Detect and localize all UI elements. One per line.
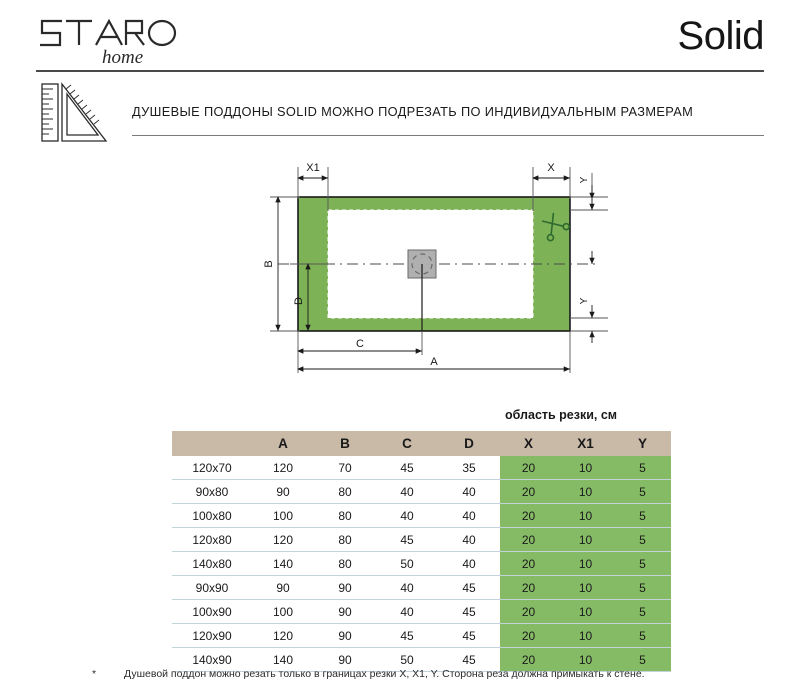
table-cell-b: 90: [314, 576, 376, 600]
table-header-a: A: [252, 431, 314, 456]
table-cell-x1: 10: [557, 600, 614, 624]
table-row: 90x909090404520105: [172, 576, 671, 600]
table-cell-d: 40: [438, 480, 500, 504]
table-cell-d: 45: [438, 600, 500, 624]
table-cell-x: 20: [500, 504, 557, 528]
table-cell-x: 20: [500, 552, 557, 576]
table-cell-x1: 10: [557, 552, 614, 576]
table-cell-x: 20: [500, 456, 557, 480]
table-cell-y: 5: [614, 504, 671, 528]
table-header-d: D: [438, 431, 500, 456]
table-cell-x: 20: [500, 528, 557, 552]
table-row: 100x9010090404520105: [172, 600, 671, 624]
brand-logo: home: [36, 14, 216, 68]
table-row: 90x809080404020105: [172, 480, 671, 504]
table-cell-b: 80: [314, 552, 376, 576]
table-cell-a: 100: [252, 600, 314, 624]
table-cell-x1: 10: [557, 456, 614, 480]
table-cell-b: 80: [314, 528, 376, 552]
footnote-marker: *: [92, 668, 96, 680]
table-cell-c: 50: [376, 552, 438, 576]
table-cell-size: 120x80: [172, 528, 252, 552]
dim-label-x1: X1: [306, 162, 319, 174]
table-header-row: A B C D X X1 Y: [172, 431, 671, 456]
table-cell-x1: 10: [557, 624, 614, 648]
table-cell-y: 5: [614, 576, 671, 600]
header-divider: [36, 70, 764, 72]
table-cell-b: 80: [314, 480, 376, 504]
table-cell-c: 45: [376, 456, 438, 480]
table-cell-c: 45: [376, 528, 438, 552]
table-row: 140x8014080504020105: [172, 552, 671, 576]
table-cell-x: 20: [500, 600, 557, 624]
table-cell-a: 120: [252, 624, 314, 648]
footnote-text: Душевой поддон можно резать только в гра…: [124, 668, 645, 680]
dim-label-x: X: [547, 162, 555, 174]
table-cell-a: 90: [252, 480, 314, 504]
table-row: 100x8010080404020105: [172, 504, 671, 528]
table-cell-b: 90: [314, 624, 376, 648]
dim-label-y-top: Y: [579, 176, 590, 183]
shower-tray-cut-diagram: X1 X Y Y B D C A: [220, 155, 620, 395]
table-cell-d: 40: [438, 552, 500, 576]
table-cell-x1: 10: [557, 504, 614, 528]
table-cell-b: 80: [314, 504, 376, 528]
table-header-b: B: [314, 431, 376, 456]
table-cell-x1: 10: [557, 480, 614, 504]
table-cell-size: 120x90: [172, 624, 252, 648]
table-cell-b: 70: [314, 456, 376, 480]
table-header-c: C: [376, 431, 438, 456]
dim-label-a: A: [430, 356, 438, 368]
table-cell-a: 100: [252, 504, 314, 528]
table-cell-y: 5: [614, 528, 671, 552]
table-cell-c: 40: [376, 480, 438, 504]
table-cell-x: 20: [500, 624, 557, 648]
dim-label-c: C: [356, 338, 364, 350]
table-cell-size: 140x80: [172, 552, 252, 576]
table-row: 120x8012080454020105: [172, 528, 671, 552]
table-cell-y: 5: [614, 456, 671, 480]
footnote: * Душевой поддон можно резать только в г…: [92, 668, 752, 680]
table-cell-a: 140: [252, 552, 314, 576]
table-row: 120x7012070453520105: [172, 456, 671, 480]
table-cell-y: 5: [614, 600, 671, 624]
table-cell-x1: 10: [557, 576, 614, 600]
table-cell-d: 40: [438, 528, 500, 552]
table-cell-d: 40: [438, 504, 500, 528]
table-cell-c: 40: [376, 600, 438, 624]
table-cell-a: 90: [252, 576, 314, 600]
table-cell-a: 120: [252, 456, 314, 480]
table-cell-c: 40: [376, 504, 438, 528]
table-cell-a: 120: [252, 528, 314, 552]
table-header-y: Y: [614, 431, 671, 456]
table-cell-d: 35: [438, 456, 500, 480]
table-cell-y: 5: [614, 552, 671, 576]
cut-area-caption: область резки, см: [505, 408, 617, 422]
page-title: Solid: [678, 16, 764, 56]
table-cell-x1: 10: [557, 528, 614, 552]
specs-table: A B C D X X1 Y 120x701207045352010590x80…: [172, 431, 671, 672]
tagline-text: ДУШЕВЫЕ ПОДДОНЫ SOLID МОЖНО ПОДРЕЗАТЬ ПО…: [132, 104, 693, 119]
dim-label-b: B: [263, 260, 275, 267]
table-header-x: X: [500, 431, 557, 456]
ruler-and-set-square-icon: [36, 80, 120, 146]
table-cell-y: 5: [614, 624, 671, 648]
table-header-x1: X1: [557, 431, 614, 456]
dim-label-d: D: [293, 297, 305, 305]
table-row: 120x9012090454520105: [172, 624, 671, 648]
svg-text:home: home: [102, 47, 143, 68]
table-cell-x: 20: [500, 480, 557, 504]
table-cell-size: 100x90: [172, 600, 252, 624]
table-cell-x: 20: [500, 576, 557, 600]
table-cell-size: 90x80: [172, 480, 252, 504]
table-cell-b: 90: [314, 600, 376, 624]
tagline-divider: [132, 135, 764, 136]
table-cell-y: 5: [614, 480, 671, 504]
dim-label-y-bottom: Y: [579, 297, 590, 304]
table-cell-d: 45: [438, 624, 500, 648]
table-cell-d: 45: [438, 576, 500, 600]
table-cell-size: 120x70: [172, 456, 252, 480]
table-header-size: [172, 431, 252, 456]
table-cell-size: 90x90: [172, 576, 252, 600]
table-cell-c: 45: [376, 624, 438, 648]
table-cell-size: 100x80: [172, 504, 252, 528]
table-cell-c: 40: [376, 576, 438, 600]
